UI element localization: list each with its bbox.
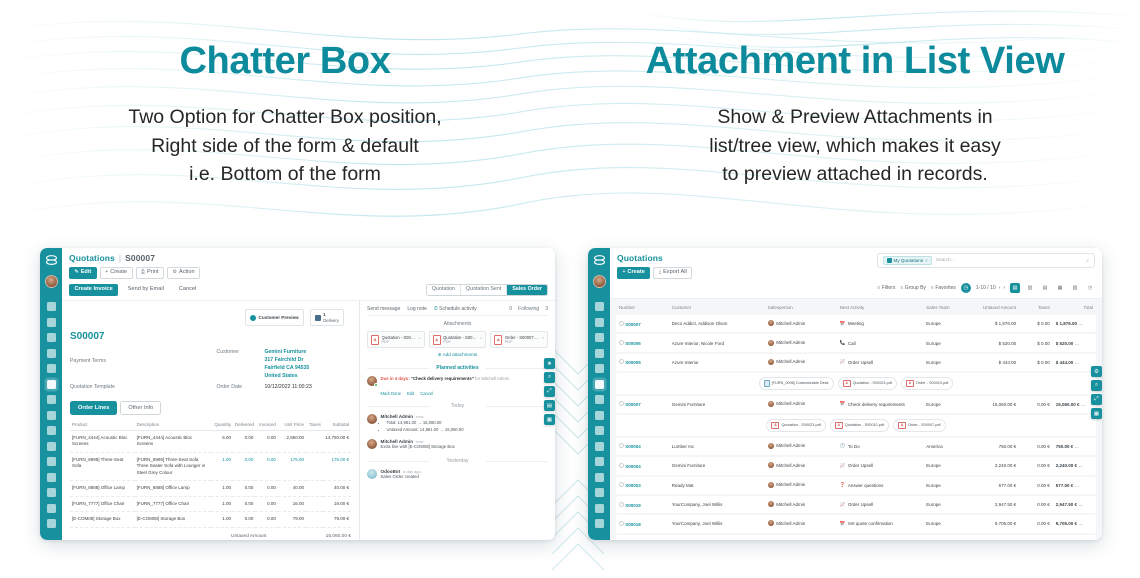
sidebar-item-calendar[interactable] (47, 333, 56, 342)
cell-salesperson: Mitchell Admin (776, 521, 805, 526)
follower-total: 3 (545, 306, 548, 312)
cell-subtotal: 14,750.00 € (323, 430, 351, 452)
cell-total: 9,705.00 € (1056, 521, 1077, 526)
close-icon[interactable]: × (542, 335, 544, 340)
view-switcher-calendar[interactable]: ▤ (1040, 283, 1050, 293)
cell-unit-price: 79.00 (278, 512, 306, 528)
col-subtotal[interactable]: Subtotal (323, 419, 351, 431)
chatter-toolbar: Send message Log note Schedule activity … (367, 306, 548, 317)
total-label: Untaxed Amount (231, 534, 266, 539)
table-row[interactable]: S00007 Deco Addict, Addison Olson Mitche… (616, 315, 1096, 332)
floating-rail-left: ★ ⌕ ⤢ ▤ ▦ (544, 358, 555, 425)
row-checkbox[interactable] (619, 401, 624, 406)
col-product[interactable]: Product (70, 419, 135, 431)
cell-untaxed: $ 444.00 (966, 354, 1019, 371)
cell-activity: Call (848, 341, 856, 346)
schedule-activity-button[interactable]: Schedule activity (434, 306, 477, 312)
screenshot-list-view: Quotations +Create ⤓Export All My Quotat… (588, 248, 1102, 540)
thread-divider-yesterday: Yesterday (367, 458, 548, 464)
view-switcher-activity[interactable]: ◷ (1085, 283, 1095, 293)
attachment-card[interactable]: A Quotation - S00023.pdf PDF × (367, 331, 425, 348)
cell-salesperson: Mitchell Admin (776, 443, 805, 448)
star-icon[interactable]: ★ (544, 358, 555, 369)
cancel-activity-button[interactable]: Cancel (420, 391, 433, 396)
sidebar-item-settings[interactable] (47, 457, 56, 466)
cell-taxes: $ 0.00 (1019, 354, 1053, 371)
avatar (768, 320, 774, 326)
col-number[interactable]: Number (616, 305, 669, 313)
cell-taxes: 0.00 € (1019, 535, 1053, 540)
attachment-name: Quotation - S00010.pdf (845, 423, 884, 427)
table-row[interactable]: [FURN_7777] Office Chair [FURN_7777] Off… (70, 496, 351, 512)
grid-icon[interactable]: ▦ (1091, 408, 1102, 419)
sidebar-item-grid[interactable] (47, 504, 56, 513)
subtitle-line: Two Option for Chatter Box position, (128, 106, 441, 128)
attachment-chip[interactable]: AQuotation - S00023.pdf (766, 419, 825, 431)
cell-untaxed: 577.00 € (966, 477, 1019, 494)
cell-team: America (923, 438, 966, 455)
subtitle-line: Right side of the form & default (151, 135, 419, 157)
avatar[interactable] (593, 275, 606, 288)
edit-button[interactable]: ✎Edit (69, 267, 97, 279)
sidebar-item-person[interactable] (595, 488, 604, 497)
control-panel-right: Quotations +Create ⤓Export All My Quotat… (610, 248, 1102, 279)
cell-subtotal: 40.00 € (323, 481, 351, 497)
add-attachments-button[interactable]: Add attachments (367, 352, 548, 358)
cell-taxes: $ 0.00 (1019, 315, 1053, 332)
pager-next-button[interactable]: › (1003, 285, 1005, 291)
planned-activities-divider: Planned activities (367, 365, 548, 371)
row-checkbox[interactable] (619, 340, 624, 345)
table-row[interactable]: S00003 Ready Mat Mitchell Admin ❓Answer … (616, 477, 1096, 494)
cell-quantity: 1.00 (211, 496, 233, 512)
attachment-chip[interactable]: AQuotation - S00010.pdf (830, 419, 889, 431)
sidebar-item-inventory[interactable] (595, 411, 604, 420)
create-button-label: Create (110, 270, 127, 276)
table-row[interactable]: [E-COM08] Storage Box [E-COM08] Storage … (70, 512, 351, 528)
avatar (768, 520, 774, 526)
avatar (768, 359, 774, 365)
settings-icon[interactable]: ⚙ (1091, 366, 1102, 377)
list-button-row: +Create ⤓Export All (617, 267, 692, 279)
cancel-label: Cancel (179, 287, 196, 293)
row-checkbox[interactable] (619, 463, 624, 468)
attachment-chip[interactable]: AOrder - S00007.pdf (893, 419, 946, 431)
pdf-icon: A (843, 380, 851, 388)
cell-customer: YourCompany, Joel Willis (669, 515, 765, 532)
cell-untaxed: 2,947.50 € (966, 496, 1019, 513)
pager-prev-button[interactable]: ‹ (999, 285, 1001, 291)
close-icon[interactable]: × (925, 258, 928, 263)
status-bar: Quotation Quotation Sent Sales Order (426, 284, 548, 296)
table-row[interactable]: S00005 Azure Interior Mitchell Admin 📈Or… (616, 354, 1096, 371)
col-quantity[interactable]: Quantity (211, 419, 233, 431)
form-sheet: Customer Preview 1Delivery S00007 Custom… (62, 301, 359, 540)
control-panel-left: Quotations | S00007 ✎Edit +Create ⎙Print… (62, 248, 555, 301)
message-bullet: Untaxed Amount: 14,981.00 → 15,060.00 (387, 427, 549, 434)
attachment-chip[interactable]: AOrder - S00019.pdf (901, 377, 954, 389)
sidebar-item-shield[interactable] (47, 364, 56, 373)
create-invoice-label: Create Invoice (75, 287, 113, 293)
group-by-dropdown[interactable]: Group By (900, 285, 926, 291)
app-sidebar-left[interactable] (40, 248, 62, 540)
cell-invoiced: 0.00 (255, 481, 277, 497)
sidebar-item-people[interactable] (47, 473, 56, 482)
table-row[interactable]: [FURN_8888] Office Lamp [FURN_8888] Offi… (70, 481, 351, 497)
expand-icon[interactable]: ⤢ (544, 386, 555, 397)
sidebar-item-grid[interactable] (595, 504, 604, 513)
plus-icon: + (623, 270, 626, 275)
form-button-row: ✎Edit +Create ⎙Print ⚙Action (69, 267, 200, 279)
attachment-type: PDF (443, 340, 477, 344)
cell-invoiced: 0.00 (255, 452, 277, 481)
avatar (367, 414, 377, 424)
meeting-icon: 📅 (840, 321, 846, 327)
col-delivered[interactable]: Delivered (233, 419, 255, 431)
close-icon[interactable]: × (480, 335, 482, 340)
cell-team: Europe (923, 354, 966, 371)
list-container: Number Customer Salesperson Next Activit… (610, 299, 1102, 540)
cell-salesperson: Mitchell Admin (776, 401, 805, 406)
message-item: Mitchell Adminnow Extra line with [E-COM… (367, 439, 548, 451)
attachments-title: Attachments (367, 321, 548, 327)
sidebar-item-gear[interactable] (595, 519, 604, 528)
chart-icon: 📈 (840, 463, 846, 469)
sidebar-item-settings[interactable] (595, 457, 604, 466)
table-row[interactable]: S00002 Ready Mat Mitchell Admin 📈Order U… (616, 535, 1096, 540)
send-message-button[interactable]: Send message (367, 306, 400, 312)
sidebar-item-apps[interactable] (595, 442, 604, 451)
attachment-chip[interactable]: [FURN_0096] Customizable Desk (759, 377, 834, 389)
avatar (768, 443, 774, 449)
edit-button-label: Edit (81, 270, 92, 276)
col-next-activity[interactable]: Next Activity (837, 305, 923, 313)
breadcrumb-app[interactable]: Quotations (617, 253, 663, 263)
cell-taxes (306, 512, 323, 528)
view-switcher-list[interactable]: ▤ (1010, 283, 1020, 293)
cell-subtotal: 16.00 € (323, 496, 351, 512)
cell-untaxed: 750.00 € (966, 438, 1019, 455)
field-order-date: Order Date 10/12/2022 11:00:23 (217, 383, 352, 391)
subtitle-line: to preview attached in records. (722, 163, 988, 185)
chart-icon: 📈 (840, 502, 846, 508)
cell-delivered: 0.00 (233, 430, 255, 452)
truck-icon (315, 315, 321, 321)
cell-taxes: $ 0.00 (1019, 334, 1053, 351)
favorites-dropdown[interactable]: Favorites (931, 285, 956, 291)
export-all-button[interactable]: ⤓Export All (653, 267, 692, 279)
delivery-label: Delivery (323, 318, 339, 323)
view-switcher-kanban[interactable]: ▥ (1025, 283, 1035, 293)
table-row[interactable]: S00006 Azure Interior, Nicole Ford Mitch… (616, 334, 1096, 351)
sidebar-item-home[interactable] (595, 302, 604, 311)
attachment-chip[interactable]: AQuotation - S00023.pdf (838, 377, 897, 389)
order-lines-table: Product Description Quantity Delivered I… (70, 419, 351, 528)
pdf-icon: A (835, 422, 843, 430)
create-button[interactable]: +Create (100, 267, 133, 279)
attachment-chip-list: [FURN_0096] Customizable Desk AQuotation… (619, 377, 1093, 389)
cell-unit-price: 40.00 (278, 481, 306, 497)
sidebar-item-close[interactable] (47, 426, 56, 435)
quotations-table: Number Customer Salesperson Next Activit… (616, 303, 1096, 540)
breadcrumb: Quotations | S00007 (69, 253, 200, 263)
cell-product: [FURN_7777] Office Chair (70, 496, 135, 512)
page-title-left: Chatter Box (0, 42, 570, 82)
sidebar-item-contacts[interactable] (47, 349, 56, 358)
cell-product: [E-COM08] Storage Box (70, 512, 135, 528)
image-icon (764, 380, 770, 388)
cell-activity: Check delivery requirements (848, 402, 905, 407)
pdf-icon: A (771, 422, 779, 430)
phone-icon: 📞 (840, 340, 846, 346)
cell-total: 750.00 € (1056, 444, 1074, 449)
breadcrumb-app[interactable]: Quotations (69, 253, 115, 263)
col-customer[interactable]: Customer (669, 305, 765, 313)
cell-taxes: 0.00 € (1019, 396, 1053, 413)
cell-team: Europe (923, 496, 966, 513)
status-badge: Sales Order (1078, 500, 1096, 509)
col-description[interactable]: Description (135, 419, 211, 431)
col-unit-price[interactable]: Unit Price (278, 419, 306, 431)
tune-icon[interactable]: ⌕ (1091, 380, 1102, 391)
sidebar-item-person[interactable] (47, 488, 56, 497)
cell-number: S00007 (625, 322, 641, 327)
cell-customer: Azure Interior, Nicole Ford (669, 334, 765, 351)
cell-subtotal: 175.00 € (323, 452, 351, 481)
field-label: Quotation Template (70, 383, 132, 391)
pdf-icon: A (371, 335, 379, 345)
page-subtitle-right: Show & Preview Attachments in list/tree … (570, 103, 1140, 189)
sidebar-item-gear[interactable] (47, 519, 56, 528)
col-total-status[interactable]: Total (1053, 305, 1096, 313)
tab-other-info[interactable]: Other Info (120, 401, 161, 414)
field-label: Payment Terms (70, 357, 118, 380)
cell-taxes (306, 496, 323, 512)
avatar[interactable] (45, 275, 58, 288)
sidebar-item-people[interactable] (595, 473, 604, 482)
field-label: Customer (217, 348, 265, 380)
activity-assignee: for Mitchell Admin (475, 376, 509, 381)
subtitle-line: i.e. Bottom of the form (189, 163, 381, 185)
status-quotation[interactable]: Quotation (427, 285, 461, 295)
field-payment-terms: Payment Terms (70, 357, 205, 380)
send-by-email-button[interactable]: Send by Email (122, 284, 169, 296)
field-customer: Customer Gemini Furniture 317 Fairchild … (217, 348, 352, 380)
sidebar-item-megaphone[interactable] (595, 318, 604, 327)
row-checkbox[interactable] (619, 482, 624, 487)
col-invoiced[interactable]: Invoiced (255, 419, 277, 431)
total-row-untaxed: Untaxed Amount 15,060.00 € (231, 533, 351, 540)
status-quotation-sent[interactable]: Quotation Sent (461, 285, 507, 295)
cell-salesperson: Mitchell Admin (776, 463, 805, 468)
export-all-label: Export All (663, 270, 687, 276)
cell-untaxed: 2,947.50 € (966, 535, 1019, 540)
cell-customer: Gemini Furniture (669, 457, 765, 474)
status-sales-order[interactable]: Sales Order (507, 285, 547, 295)
table-row[interactable]: [FURN_8999] Three-Seat Sofa [FURN_8999] … (70, 452, 351, 481)
clock-icon[interactable]: ◷ (961, 283, 971, 293)
row-checkbox[interactable] (619, 443, 624, 448)
attachment-card[interactable]: A Order - S00007.pdf PDF × (490, 331, 548, 348)
sidebar-item-close[interactable] (595, 426, 604, 435)
avatar (367, 376, 377, 386)
cell-total: $ 520.00 (1056, 341, 1074, 346)
cell-customer: Gemini Furniture (669, 396, 765, 413)
odoo-logo-icon[interactable] (591, 253, 608, 270)
cell-number: S00007 (625, 402, 641, 407)
message-author: Mitchell Admin (381, 414, 414, 419)
cell-customer: YourCompany, Joel Willis (669, 496, 765, 513)
cell-number: S00004 (625, 464, 641, 469)
cell-delivered: 0.00 (233, 452, 255, 481)
cell-taxes (306, 430, 323, 452)
attachment-name: Quotation - S00023.pdf (781, 423, 820, 427)
cell-activity: Order Upsell (848, 502, 873, 507)
cell-product: [FURN_8999] Three-Seat Sofa (70, 452, 135, 481)
expand-icon[interactable]: ⤢ (1091, 394, 1102, 405)
sidebar-item-home[interactable] (47, 302, 56, 311)
pager-range: 1-10 / 10 (976, 285, 996, 291)
create-button-label: Create (627, 270, 644, 276)
field-label: Order Date (217, 383, 265, 391)
col-sales-team[interactable]: Sales Team (923, 305, 966, 313)
sidebar-item-invoice[interactable] (595, 395, 604, 404)
delivery-button[interactable]: 1Delivery (310, 309, 344, 326)
sidebar-item-sales[interactable] (47, 380, 56, 389)
search-input[interactable]: My Quotations × Search... ⌕ (877, 253, 1095, 268)
row-checkbox[interactable] (619, 359, 624, 364)
row-checkbox[interactable] (619, 502, 624, 507)
view-switcher-graph[interactable]: ▨ (1070, 283, 1080, 293)
cell-subtotal: 79.00 € (323, 512, 351, 528)
customer-preview-button[interactable]: Customer Preview (245, 309, 304, 326)
cell-number: S00005 (625, 360, 641, 365)
search-facet[interactable]: My Quotations × (883, 256, 932, 265)
col-salesperson[interactable]: Salesperson (765, 305, 837, 313)
row-checkbox[interactable] (619, 521, 624, 526)
col-untaxed-amount[interactable]: Untaxed Amount (966, 305, 1019, 313)
search-placeholder: Search... (936, 258, 1082, 263)
cell-total: $ 444.00 (1056, 360, 1074, 365)
avatar (768, 501, 774, 507)
field-value-customer[interactable]: Gemini Furniture 317 Fairchild Dr Fairfi… (265, 348, 310, 380)
table-row[interactable]: S00018 YourCompany, Joel Willis Mitchell… (616, 515, 1096, 532)
table-row[interactable]: S00004 Lumber Inc Mitchell Admin 🕐To Do … (616, 438, 1096, 455)
cell-description: [FURN_8999] Three-Seat Sofa Three Seater… (135, 452, 211, 481)
attachment-card[interactable]: A Quotation - S00010.pdf PDF × (429, 331, 487, 348)
cell-taxes (306, 452, 323, 481)
sidebar-item-apps[interactable] (47, 442, 56, 451)
cell-delivered: 0.00 (233, 512, 255, 528)
search-icon[interactable]: ⌕ (544, 372, 555, 383)
message-item: Mitchell Adminnow Total: 14,981.00 → 15,… (367, 414, 548, 433)
form-sheet-wrapper: Customer Preview 1Delivery S00007 Custom… (62, 301, 555, 540)
sidebar-item-contacts[interactable] (595, 349, 604, 358)
cell-total: $ 1,876.00 (1056, 321, 1077, 326)
cancel-button[interactable]: Cancel (173, 284, 201, 296)
cell-number: S00004 (625, 444, 641, 449)
table-row[interactable]: S00007 Gemini Furniture Mitchell Admin 📅… (616, 396, 1096, 413)
table-row[interactable]: S00019 YourCompany, Joel Willis Mitchell… (616, 496, 1096, 513)
pdf-icon: A (906, 380, 914, 388)
sidebar-item-sales[interactable] (595, 380, 604, 389)
sidebar-item-invoice[interactable] (47, 395, 56, 404)
pencil-icon: ✎ (75, 270, 79, 275)
table-row[interactable]: [FURN_4444] Acoustic Bloc Screens [FURN_… (70, 430, 351, 452)
eye-icon (250, 315, 256, 321)
activity-item: Due in 4 days: “Check delivery requireme… (367, 376, 548, 386)
avatar (768, 482, 774, 488)
status-badge: Quotation (1078, 319, 1096, 328)
attachment-name: [FURN_0096] Customizable Desk (772, 381, 829, 385)
table-header-row: Number Customer Salesperson Next Activit… (616, 305, 1096, 313)
cell-activity: Set quote confirmation (848, 521, 893, 526)
filters-dropdown[interactable]: Filters (877, 285, 895, 291)
tab-order-lines[interactable]: Order Lines (70, 401, 117, 414)
screenshot-form-view: Quotations | S00007 ✎Edit +Create ⎙Print… (40, 248, 555, 540)
sidebar-item-shield[interactable] (595, 364, 604, 373)
sidebar-item-inventory[interactable] (47, 411, 56, 420)
cell-untaxed: $ 1,876.00 (966, 315, 1019, 332)
create-invoice-button[interactable]: Create Invoice (69, 284, 118, 296)
grid-icon[interactable]: ▦ (544, 414, 555, 425)
breadcrumb: Quotations (617, 253, 692, 263)
row-checkbox[interactable] (619, 321, 624, 326)
col-taxes[interactable]: Taxes (306, 419, 323, 431)
col-taxes[interactable]: Taxes (1019, 305, 1053, 313)
cell-total: 15,060.00 € (1056, 402, 1080, 407)
sidebar-item-calendar[interactable] (595, 333, 604, 342)
activity-subject: “Check delivery requirements” (411, 376, 474, 381)
cell-total: 577.00 € (1056, 483, 1074, 488)
cell-customer: Lumber Inc (669, 438, 765, 455)
message-text: Sales Order created (381, 474, 549, 481)
layout-icon[interactable]: ▤ (544, 400, 555, 411)
print-button[interactable]: ⎙Print (136, 267, 165, 279)
calendar-icon: 📅 (840, 401, 846, 407)
field-value-order-date[interactable]: 10/12/2022 11:00:23 (265, 383, 312, 391)
app-sidebar-right[interactable] (588, 248, 610, 540)
table-row[interactable]: S00004 Gemini Furniture Mitchell Admin 📈… (616, 457, 1096, 474)
create-button[interactable]: +Create (617, 267, 650, 279)
attachment-name: Order - S00007.pdf (908, 423, 941, 427)
cell-taxes: 0.00 € (1019, 477, 1053, 494)
edit-activity-button[interactable]: Edit (407, 391, 414, 396)
search-facet-label: My Quotations (894, 258, 924, 263)
form-fields: Customer Gemini Furniture 317 Fairchild … (70, 348, 351, 394)
log-note-button[interactable]: Log note (407, 306, 426, 312)
view-switcher-pivot[interactable]: ▦ (1055, 283, 1065, 293)
message-item: OdooBota day ago Sales Order created (367, 469, 548, 481)
bot-avatar (367, 469, 377, 479)
field-quotation-template: Quotation Template (70, 383, 205, 391)
action-button[interactable]: ⚙Action (167, 267, 200, 279)
close-icon[interactable]: × (418, 335, 420, 340)
cell-activity: Order Upsell (848, 463, 873, 468)
print-icon: ⎙ (141, 270, 145, 275)
following-button[interactable]: Following (518, 306, 539, 312)
search-icon[interactable]: ⌕ (1086, 258, 1089, 264)
mark-done-button[interactable]: Mark Done (381, 391, 401, 396)
cell-untaxed: 15,060.00 € (966, 396, 1019, 413)
cell-number: S00003 (625, 483, 641, 488)
plus-icon: + (105, 270, 108, 275)
cell-delivered: 0.00 (233, 481, 255, 497)
odoo-logo-icon[interactable] (43, 253, 60, 270)
cell-activity: Order Upsell (848, 360, 873, 365)
sidebar-item-megaphone[interactable] (47, 318, 56, 327)
cell-number: S00018 (625, 522, 641, 527)
